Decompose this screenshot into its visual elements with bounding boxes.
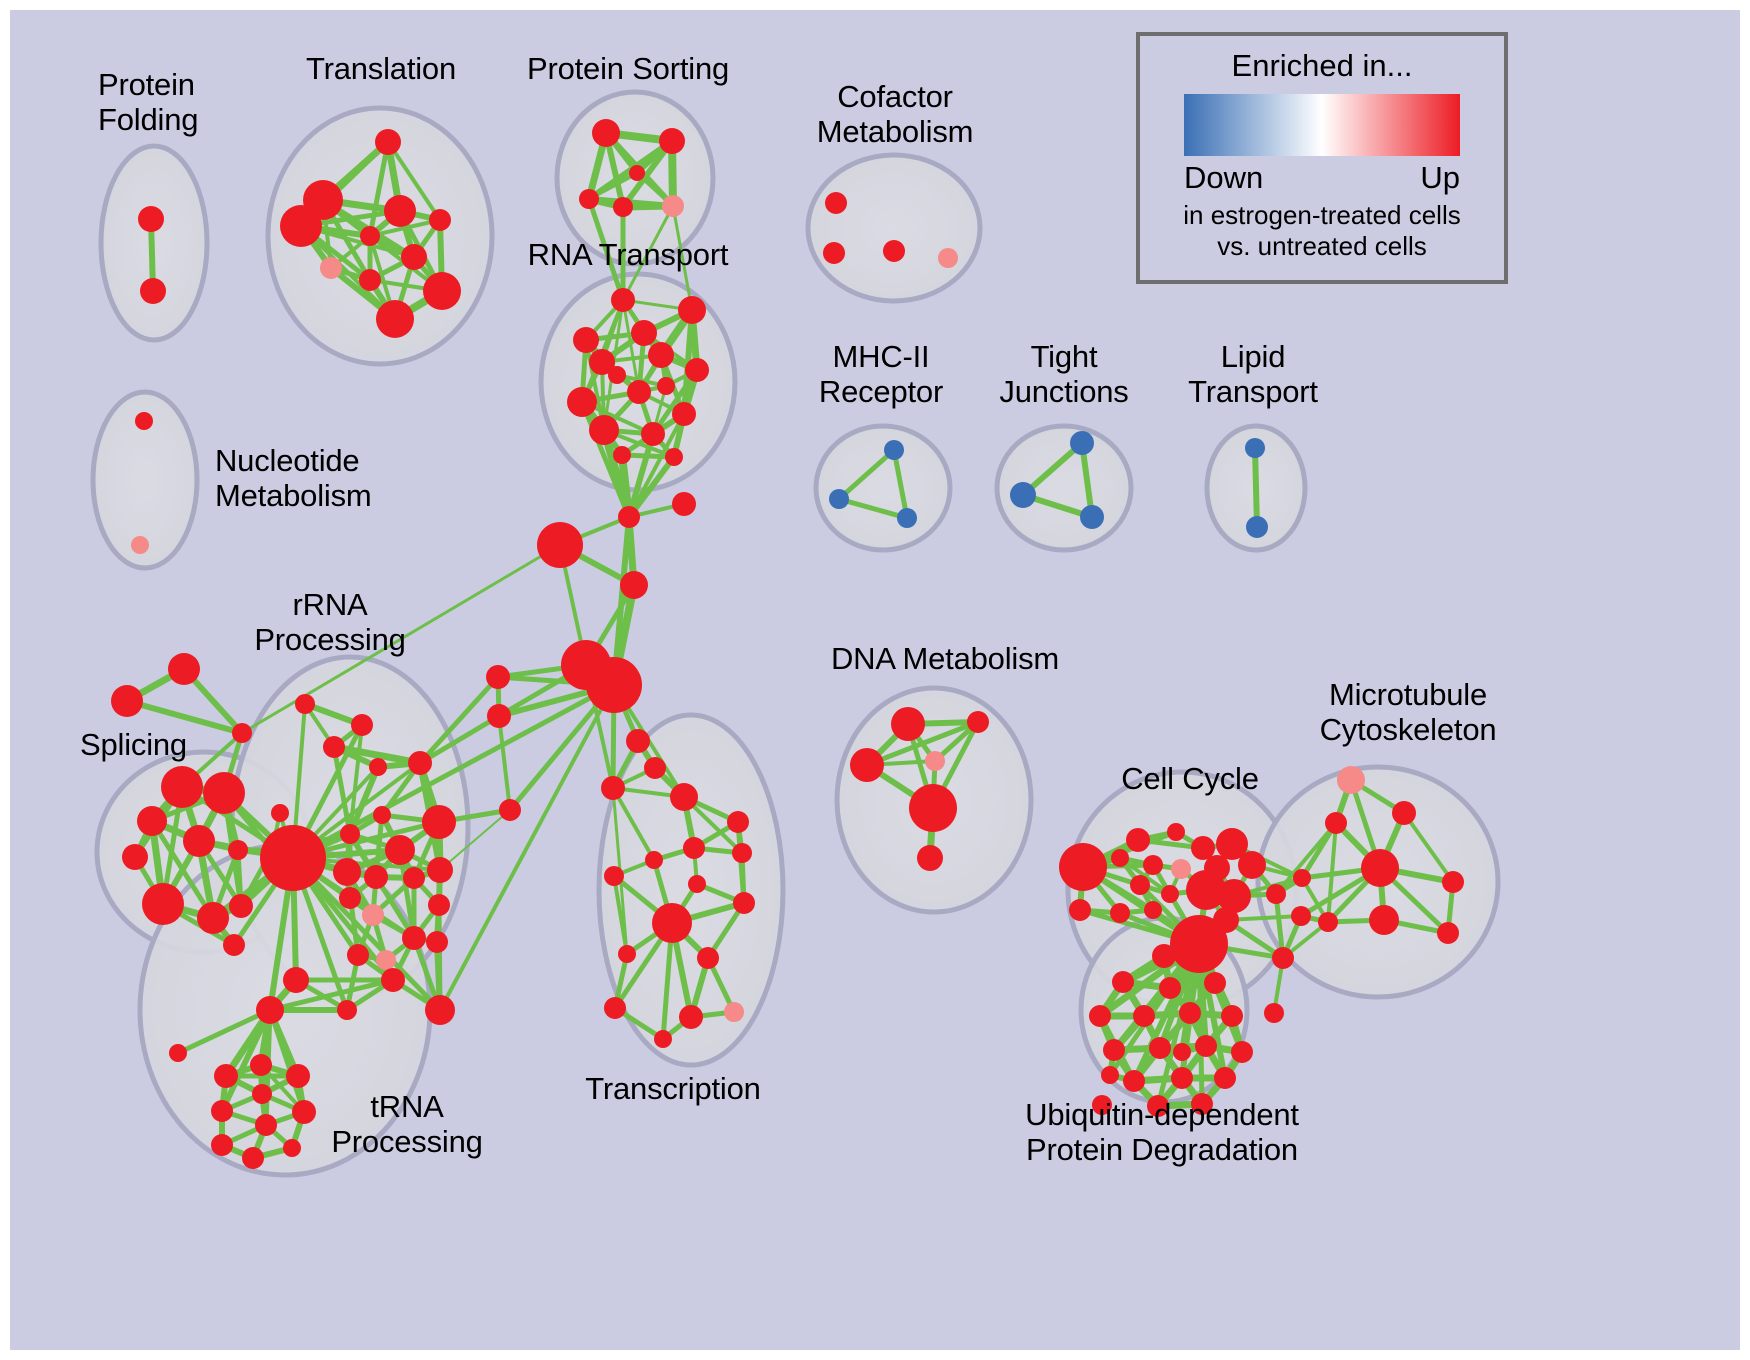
gene-set-node[interactable] [850,748,884,782]
gene-set-node[interactable] [613,446,631,464]
gene-set-node[interactable] [613,197,633,217]
cluster-label-line: tRNA [331,1090,482,1125]
gene-set-node[interactable] [604,866,624,886]
gene-set-node[interactable] [351,714,373,736]
gene-set-node[interactable] [1221,1005,1243,1027]
cluster-label-lipid-transport: LipidTransport [1188,340,1318,409]
gene-set-node[interactable] [925,751,945,771]
gene-set-node[interactable] [1272,947,1294,969]
cluster-label-protein-sorting: Protein Sorting [527,52,729,87]
cluster-label-microtubule-cytoskeleton: MicrotubuleCytoskeleton [1320,678,1497,747]
gene-set-node[interactable] [608,366,626,384]
gene-set-node[interactable] [917,845,943,871]
gene-set-node[interactable] [423,272,461,310]
gene-set-node[interactable] [138,206,164,232]
cluster-label-line: Folding [98,103,198,138]
gene-set-node[interactable] [242,1147,264,1169]
gene-set-node[interactable] [255,1114,277,1136]
gene-set-node[interactable] [891,707,925,741]
gene-set-node[interactable] [362,904,384,926]
gene-set-node[interactable] [1266,884,1286,904]
gene-set-node[interactable] [1167,823,1185,841]
gene-set-node[interactable] [1144,901,1162,919]
gene-set-node[interactable] [1369,905,1399,935]
edge[interactable] [439,905,440,1010]
gene-set-node[interactable] [429,209,451,231]
gene-set-node[interactable] [604,997,626,1019]
cluster-label-line: Microtubule [1320,678,1497,713]
gene-set-node[interactable] [286,1064,310,1088]
cluster-label-translation: Translation [306,52,456,87]
gene-set-node[interactable] [579,189,599,209]
gene-set-node[interactable] [271,804,289,822]
gene-set-node[interactable] [384,195,416,227]
legend-subtitle-line1: in estrogen-treated cells [1140,200,1504,231]
gene-set-node[interactable] [401,244,427,270]
cluster-label-line: Cytoskeleton [1320,713,1497,748]
cluster-label-line: DNA Metabolism [831,642,1059,677]
gene-set-node[interactable] [228,840,248,860]
cluster-label-rna-transport: RNA Transport [528,238,729,273]
gene-set-node[interactable] [1291,906,1311,926]
gene-set-node[interactable] [1195,1035,1217,1057]
gene-set-node[interactable] [203,772,245,814]
legend-title: Enriched in... [1140,48,1504,84]
gene-set-node[interactable] [1214,1067,1236,1089]
gene-set-node[interactable] [323,736,345,758]
gene-set-node[interactable] [1171,859,1191,879]
cluster-label-line: Nucleotide [215,444,372,479]
gene-set-node[interactable] [295,694,315,714]
gene-set-node[interactable] [280,205,322,247]
gene-set-node[interactable] [131,536,149,554]
cluster-label-tight-junctions: TightJunctions [999,340,1128,409]
gene-set-node[interactable] [1101,1066,1119,1084]
gene-set-node[interactable] [724,1002,744,1022]
gene-set-node[interactable] [1264,1003,1284,1023]
cluster-label-line: Transcription [585,1072,760,1107]
gene-set-node[interactable] [688,875,706,893]
gene-set-node[interactable] [486,665,510,689]
cluster-label-mhc-ii-receptor: MHC-IIReceptor [819,340,943,409]
gene-set-node[interactable] [1126,828,1150,852]
gene-set-node[interactable] [428,894,450,916]
cluster-label-line: RNA Transport [528,238,729,273]
gene-set-node[interactable] [683,837,705,859]
gene-set-node[interactable] [1069,899,1091,921]
cluster-label-line: Tight [999,340,1128,375]
cluster-label-ubiquitin-protein-degradation: Ubiquitin-dependentProtein Degradation [1025,1098,1299,1167]
gene-set-node[interactable] [1325,812,1347,834]
gene-set-node[interactable] [337,1000,357,1020]
gene-set-node[interactable] [670,783,698,811]
gene-set-node[interactable] [897,508,917,528]
gene-set-node[interactable] [829,489,849,509]
cluster-label-line: Ubiquitin-dependent [1025,1098,1299,1133]
cluster-label-line: Protein [98,68,198,103]
cluster-label-line: Processing [254,623,405,658]
cluster-label-splicing: Splicing [80,728,187,763]
gene-set-node[interactable] [883,240,905,262]
edge[interactable] [1255,448,1257,527]
gene-set-node[interactable] [142,883,184,925]
gene-set-node[interactable] [732,843,752,863]
gene-set-node[interactable] [487,704,511,728]
gene-set-node[interactable] [1149,1037,1171,1059]
gene-set-node[interactable] [211,1134,233,1156]
legend-color-gradient [1184,94,1460,156]
cluster-label-line: Cofactor [817,80,974,115]
cluster-label-line: Metabolism [215,479,372,514]
gene-set-node[interactable] [373,806,391,824]
gene-set-node[interactable] [333,858,361,886]
gene-set-node[interactable] [537,522,583,568]
gene-set-node[interactable] [620,571,648,599]
legend-high-label: Up [1420,160,1460,196]
gene-set-node[interactable] [425,995,455,1025]
gene-set-node[interactable] [1103,1039,1125,1061]
gene-set-node[interactable] [967,711,989,733]
gene-set-node[interactable] [283,967,309,993]
gene-set-node[interactable] [589,415,619,445]
gene-set-node[interactable] [611,288,635,312]
gene-set-node[interactable] [427,857,453,883]
cluster-label-dna-metabolism: DNA Metabolism [831,642,1059,677]
gene-set-node[interactable] [422,805,456,839]
cluster-label-line: Processing [331,1125,482,1160]
gene-set-node[interactable] [567,387,597,417]
figure-root: ProteinFoldingTranslationNucleotideMetab… [0,0,1750,1360]
gene-set-node[interactable] [168,653,200,685]
gene-set-node[interactable] [320,257,342,279]
gene-set-node[interactable] [1173,1043,1191,1061]
gene-set-node[interactable] [1089,1005,1111,1027]
cluster-label-protein-folding: ProteinFolding [98,68,198,137]
gene-set-node[interactable] [1442,871,1464,893]
gene-set-node[interactable] [376,300,414,338]
gene-set-node[interactable] [573,327,599,353]
gene-set-node[interactable] [403,867,425,889]
legend-panel: Enriched in... Down Up in estrogen-treat… [1136,32,1508,284]
gene-set-node[interactable] [1337,766,1365,794]
gene-set-node[interactable] [679,1005,703,1029]
cluster-label-line: MHC-II [819,340,943,375]
gene-set-node[interactable] [652,903,692,943]
gene-set-node[interactable] [1123,1070,1145,1092]
gene-set-node[interactable] [1392,801,1416,825]
gene-set-node[interactable] [644,757,666,779]
gene-set-node[interactable] [211,1100,233,1122]
gene-set-node[interactable] [402,926,426,950]
gene-set-node[interactable] [938,248,958,268]
cluster-label-line: Splicing [80,728,187,763]
cluster-hull-mhc-ii-receptor[interactable] [816,426,950,550]
cluster-label-line: Cell Cycle [1121,762,1259,797]
gene-set-node[interactable] [823,242,845,264]
gene-set-node[interactable] [339,887,361,909]
gene-set-node[interactable] [1152,944,1176,968]
gene-set-node[interactable] [672,402,696,426]
cluster-label-line: rRNA [254,588,405,623]
gene-set-node[interactable] [1070,431,1094,455]
gene-set-node[interactable] [601,776,625,800]
gene-set-node[interactable] [1179,1002,1201,1024]
gene-set-node[interactable] [381,968,405,992]
gene-set-node[interactable] [232,723,252,743]
gene-set-node[interactable] [592,119,620,147]
cluster-label-cell-cycle: Cell Cycle [1121,762,1259,797]
legend-low-label: Down [1184,160,1263,196]
gene-set-node[interactable] [340,824,360,844]
network-canvas: ProteinFoldingTranslationNucleotideMetab… [10,10,1740,1350]
cluster-label-line: Receptor [819,375,943,410]
gene-set-node[interactable] [685,358,709,382]
cluster-label-nucleotide-metabolism: NucleotideMetabolism [215,444,372,513]
gene-set-node[interactable] [260,825,326,891]
gene-set-node[interactable] [641,422,665,446]
gene-set-node[interactable] [252,1084,272,1104]
gene-set-node[interactable] [678,296,706,324]
gene-set-node[interactable] [697,947,719,969]
gene-set-node[interactable] [122,844,148,870]
gene-set-node[interactable] [369,758,387,776]
gene-set-node[interactable] [426,931,448,953]
gene-set-node[interactable] [385,835,415,865]
cluster-label-line: Translation [306,52,456,87]
gene-set-node[interactable] [1437,922,1459,944]
gene-set-node[interactable] [657,377,675,395]
gene-set-node[interactable] [645,851,663,869]
gene-set-node[interactable] [1204,972,1226,994]
gene-set-node[interactable] [1246,516,1268,538]
gene-set-node[interactable] [183,825,215,857]
gene-set-node[interactable] [161,766,203,808]
gene-set-node[interactable] [408,751,432,775]
cluster-label-line: Protein Sorting [527,52,729,87]
gene-set-node[interactable] [627,380,651,404]
gene-set-node[interactable] [283,1139,301,1157]
gene-set-node[interactable] [360,226,380,246]
cluster-label-line: Protein Degradation [1025,1133,1299,1168]
cluster-label-line: Junctions [999,375,1128,410]
gene-set-node[interactable] [375,129,401,155]
gene-set-node[interactable] [376,950,396,970]
gene-set-node[interactable] [1159,977,1181,999]
gene-set-node[interactable] [1161,885,1179,903]
gene-set-node[interactable] [499,799,521,821]
gene-set-node[interactable] [214,1064,238,1088]
cluster-label-cofactor-metabolism: CofactorMetabolism [817,80,974,149]
gene-set-node[interactable] [229,894,253,918]
cluster-label-transcription: Transcription [585,1072,760,1107]
cluster-label-trna-processing: tRNAProcessing [331,1090,482,1159]
gene-set-node[interactable] [884,440,904,460]
gene-set-node[interactable] [618,945,636,963]
gene-set-node[interactable] [292,1100,316,1124]
cluster-label-line: Transport [1188,375,1318,410]
gene-set-node[interactable] [586,657,642,713]
gene-set-node[interactable] [1133,1005,1155,1027]
gene-set-node[interactable] [1170,915,1228,973]
gene-set-node[interactable] [648,342,674,368]
gene-set-node[interactable] [1143,855,1163,875]
cluster-label-line: Metabolism [817,115,974,150]
gene-set-node[interactable] [1080,505,1104,529]
legend-subtitle-line2: vs. untreated cells [1140,231,1504,262]
cluster-hull-cofactor-metabolism[interactable] [808,155,980,301]
gene-set-node[interactable] [654,1030,672,1048]
gene-set-node[interactable] [256,996,284,1024]
gene-set-node[interactable] [1130,875,1150,895]
gene-set-node[interactable] [347,944,369,966]
gene-set-node[interactable] [672,492,696,516]
gene-set-node[interactable] [223,934,245,956]
gene-set-node[interactable] [909,784,957,832]
gene-set-node[interactable] [359,269,381,291]
gene-set-node[interactable] [665,448,683,466]
gene-set-node[interactable] [1245,438,1265,458]
gene-set-node[interactable] [662,195,684,217]
gene-set-node[interactable] [364,865,388,889]
gene-set-node[interactable] [733,892,755,914]
gene-set-node[interactable] [1318,912,1338,932]
gene-set-node[interactable] [1059,843,1107,891]
legend-subtitle: in estrogen-treated cells vs. untreated … [1140,200,1504,261]
gene-set-node[interactable] [659,128,685,154]
gene-set-node[interactable] [1361,849,1399,887]
gene-set-node[interactable] [631,320,657,346]
gene-set-node[interactable] [626,729,650,753]
edge[interactable] [499,716,510,810]
gene-set-node[interactable] [618,506,640,528]
cluster-label-rrna-processing: rRNAProcessing [254,588,405,657]
cluster-label-line: Lipid [1188,340,1318,375]
gene-set-node[interactable] [1293,869,1311,887]
gene-set-node[interactable] [1238,851,1266,879]
gene-set-node[interactable] [1010,482,1036,508]
gene-set-node[interactable] [135,412,153,430]
gene-set-node[interactable] [727,811,749,833]
gene-set-node[interactable] [1110,903,1130,923]
gene-set-node[interactable] [1231,1041,1253,1063]
gene-set-node[interactable] [1111,849,1129,867]
gene-set-node[interactable] [137,806,167,836]
gene-set-node[interactable] [140,278,166,304]
gene-set-node[interactable] [197,902,229,934]
gene-set-node[interactable] [111,685,143,717]
gene-set-node[interactable] [629,165,645,181]
gene-set-node[interactable] [1171,1067,1193,1089]
gene-set-node[interactable] [169,1044,187,1062]
gene-set-node[interactable] [1112,971,1134,993]
gene-set-node[interactable] [250,1054,272,1076]
gene-set-node[interactable] [825,192,847,214]
